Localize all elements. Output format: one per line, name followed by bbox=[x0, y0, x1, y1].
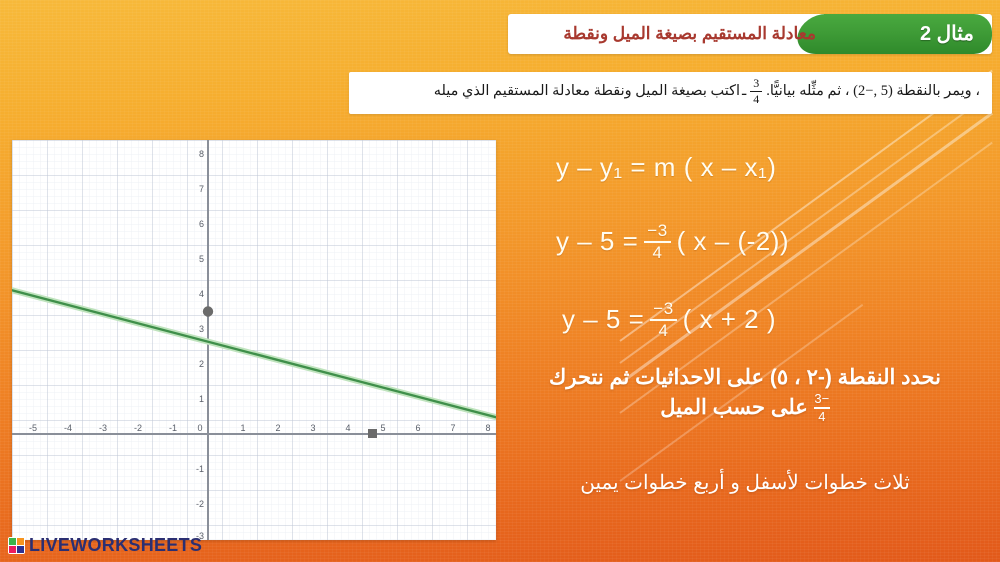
svg-text:6: 6 bbox=[415, 423, 420, 433]
svg-text:7: 7 bbox=[450, 423, 455, 433]
annotation-slope-fraction: −3 4 bbox=[814, 392, 830, 423]
lesson-title: معادلة المستقيم بصيغة الميل ونقطة bbox=[563, 14, 816, 54]
eq2-slope-fraction: −3 4 bbox=[644, 222, 670, 262]
eq2-right: ( x – (-2)) bbox=[677, 226, 789, 257]
svg-text:-2: -2 bbox=[134, 423, 142, 433]
svg-text:5: 5 bbox=[380, 423, 385, 433]
svg-text:-1: -1 bbox=[196, 464, 204, 474]
question-minus-sign: ـ bbox=[742, 81, 746, 103]
equation-simplified: y – 5 = −3 4 ( x + 2 ) bbox=[562, 300, 776, 340]
equation-substituted: y – 5 = −3 4 ( x – (-2)) bbox=[556, 222, 789, 262]
svg-text:1: 1 bbox=[240, 423, 245, 433]
svg-text:6: 6 bbox=[199, 219, 204, 229]
svg-text:8: 8 bbox=[199, 149, 204, 159]
fraction-numerator: 3 bbox=[751, 77, 761, 90]
graph-svg: -5 -4 -3 -2 -1 0 1 2 3 4 5 6 7 8 8 7 6 5 bbox=[12, 140, 496, 540]
svg-text:-5: -5 bbox=[29, 423, 37, 433]
fraction-denominator: 4 bbox=[655, 322, 671, 340]
annotation-steps: ثلاث خطوات لأسفل و أربع خطوات يمين bbox=[500, 470, 990, 495]
eq3-left: y – 5 = bbox=[562, 304, 644, 335]
svg-text:1: 1 bbox=[199, 394, 204, 404]
slide-root: مثال 2 معادلة المستقيم بصيغة الميل ونقطة… bbox=[0, 0, 1000, 562]
fraction-numerator: −3 bbox=[650, 300, 676, 318]
eq1-text: y – y₁ = m ( x – x₁) bbox=[556, 152, 776, 183]
svg-text:3: 3 bbox=[199, 324, 204, 334]
plot-point-x-intercept bbox=[368, 429, 377, 438]
svg-text:-4: -4 bbox=[64, 423, 72, 433]
question-part-2: ، ويمر بالنقطة (5 ,2‪−‬) ، ثم مثِّله بيا… bbox=[766, 81, 980, 103]
liveworksheets-wordmark: LIVEWORKSHEETS bbox=[29, 535, 202, 556]
svg-text:0: 0 bbox=[197, 423, 202, 433]
eq3-right: ( x + 2 ) bbox=[683, 304, 776, 335]
annotation-line-2-text: على حسب الميل bbox=[660, 394, 808, 422]
svg-text:-2: -2 bbox=[196, 499, 204, 509]
annotation-line-1: نحدد النقطة (-٢ ، ٥) على الاحداثيات ثم ن… bbox=[500, 364, 990, 392]
fraction-denominator: 4 bbox=[818, 410, 825, 424]
question-text: ، ويمر بالنقطة (5 ,2‪−‬) ، ثم مثِّله بيا… bbox=[434, 78, 980, 106]
liveworksheets-logo: LIVEWORKSHEETS bbox=[8, 535, 202, 556]
svg-text:8: 8 bbox=[485, 423, 490, 433]
svg-text:-3: -3 bbox=[99, 423, 107, 433]
svg-text:-1: -1 bbox=[169, 423, 177, 433]
fraction-denominator: 4 bbox=[751, 93, 761, 106]
annotation-plot-instructions: نحدد النقطة (-٢ ، ٥) على الاحداثيات ثم ن… bbox=[500, 364, 990, 424]
svg-text:3: 3 bbox=[310, 423, 315, 433]
question-slope-fraction: 3 4 bbox=[750, 77, 762, 105]
fraction-denominator: 4 bbox=[649, 244, 665, 262]
graph-major-grid bbox=[12, 140, 496, 540]
svg-text:7: 7 bbox=[199, 184, 204, 194]
annotation-line-2: −3 4 على حسب الميل bbox=[500, 392, 990, 423]
svg-text:2: 2 bbox=[199, 359, 204, 369]
fraction-numerator: −3 bbox=[814, 392, 829, 406]
svg-text:4: 4 bbox=[199, 289, 204, 299]
example-badge-label: مثال 2 bbox=[920, 14, 974, 54]
fraction-numerator: −3 bbox=[644, 222, 670, 240]
eq3-slope-fraction: −3 4 bbox=[650, 300, 676, 340]
question-box: ، ويمر بالنقطة (5 ,2‪−‬) ، ثم مثِّله بيا… bbox=[349, 72, 992, 114]
plot-point-y-intercept bbox=[203, 306, 213, 316]
question-part-1: اكتب بصيغة الميل ونقطة معادلة المستقيم ا… bbox=[434, 81, 740, 103]
coordinate-graph: -5 -4 -3 -2 -1 0 1 2 3 4 5 6 7 8 8 7 6 5 bbox=[12, 140, 496, 540]
eq2-left: y – 5 = bbox=[556, 226, 638, 257]
equation-point-slope-general: y – y₁ = m ( x – x₁) bbox=[556, 152, 776, 183]
svg-text:2: 2 bbox=[275, 423, 280, 433]
svg-text:4: 4 bbox=[345, 423, 350, 433]
header-banner: مثال 2 معادلة المستقيم بصيغة الميل ونقطة bbox=[508, 14, 992, 54]
liveworksheets-mark-icon bbox=[8, 537, 25, 554]
svg-text:5: 5 bbox=[199, 254, 204, 264]
